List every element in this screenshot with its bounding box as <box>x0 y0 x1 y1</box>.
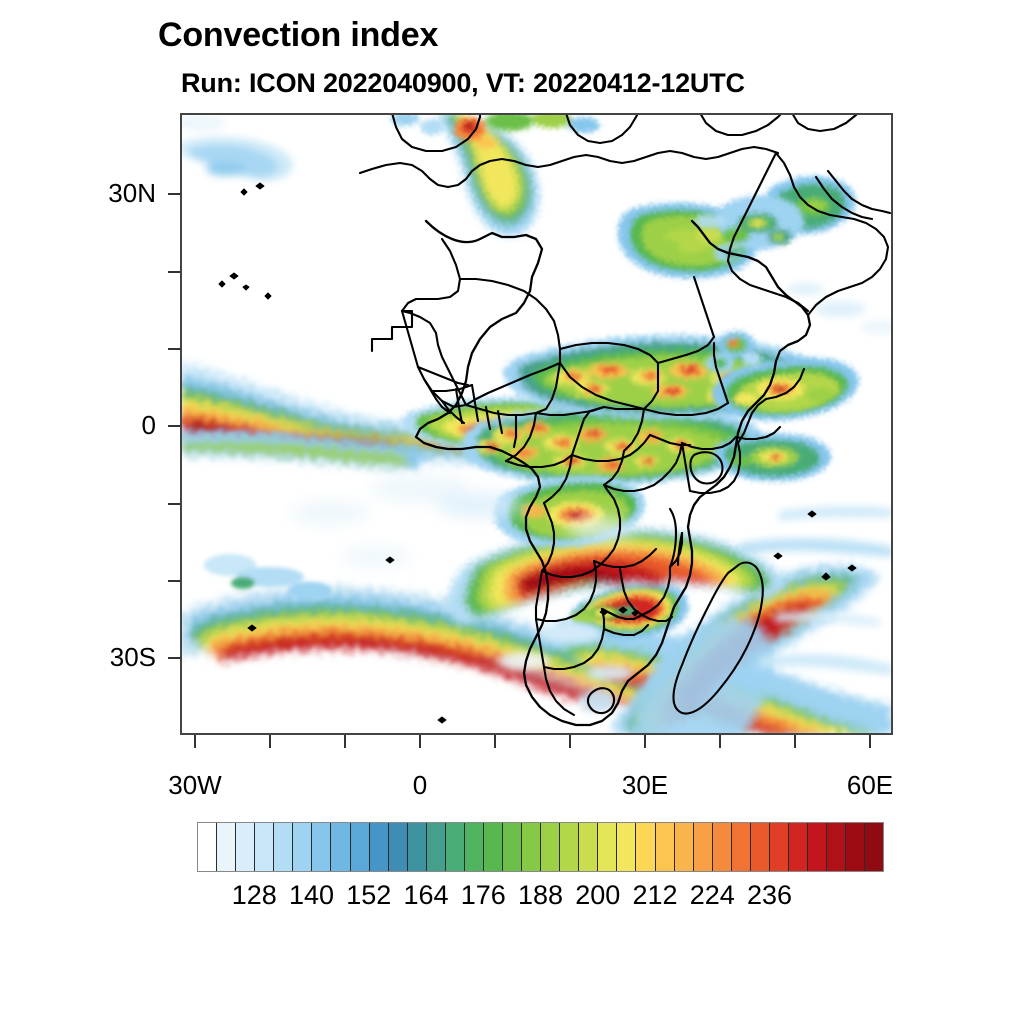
x-axis-label-30W: 30W <box>115 770 275 801</box>
x-axis-label-0: 0 <box>340 770 500 801</box>
colorbar-cell <box>846 823 865 871</box>
colorbar-cell <box>255 823 274 871</box>
colorbar-cell <box>694 823 713 871</box>
colorbar-cell <box>560 823 579 871</box>
x-tick-10W <box>344 735 346 748</box>
colorbar-cell <box>808 823 827 871</box>
colorbar-cell <box>617 823 636 871</box>
colorbar-cell <box>751 823 770 871</box>
colorbar-cell <box>236 823 255 871</box>
x-tick-0 <box>419 735 421 748</box>
x-tick-30W <box>194 735 196 748</box>
colorbar-cell <box>579 823 598 871</box>
colorbar-tick-label: 152 <box>346 880 391 911</box>
colorbar-cell <box>865 823 883 871</box>
y-tick-30S <box>168 657 181 659</box>
x-tick-50E <box>794 735 796 748</box>
x-axis-label-60E: 60E <box>790 770 950 801</box>
colorbar-tick-label: 164 <box>403 880 448 911</box>
x-tick-20E <box>569 735 571 748</box>
colorbar-cell <box>351 823 370 871</box>
run-valid-time-subtitle: Run: ICON 2022040900, VT: 20220412-12UTC <box>181 68 745 99</box>
colorbar-cell <box>427 823 446 871</box>
colorbar-cell <box>636 823 655 871</box>
colorbar-cell <box>217 823 236 871</box>
colorbar-cell <box>331 823 350 871</box>
y-tick-30N <box>168 193 181 195</box>
y-axis-label-30S: 30S <box>0 642 156 673</box>
colorbar <box>197 822 884 872</box>
colorbar-cell <box>198 823 217 871</box>
colorbar-cell <box>598 823 617 871</box>
colorbar-cell <box>446 823 465 871</box>
colorbar-tick-label: 236 <box>747 880 792 911</box>
colorbar-cell <box>503 823 522 871</box>
colorbar-cell <box>541 823 560 871</box>
x-tick-40E <box>719 735 721 748</box>
colorbar-cell <box>293 823 312 871</box>
colorbar-tick-label: 128 <box>232 880 277 911</box>
colorbar-tick-label: 224 <box>690 880 735 911</box>
colorbar-cell <box>827 823 846 871</box>
page-title: Convection index <box>158 16 438 55</box>
colorbar-tick-label: 212 <box>632 880 677 911</box>
colorbar-cell <box>408 823 427 871</box>
y-tick-20S <box>168 580 181 582</box>
colorbar-cell <box>522 823 541 871</box>
y-tick-0 <box>168 425 181 427</box>
colorbar-cell <box>484 823 503 871</box>
colorbar-cell <box>713 823 732 871</box>
colorbar-tick-labels: 128140152164176188200212224236 <box>0 880 1024 920</box>
x-tick-20W <box>269 735 271 748</box>
y-tick-10N <box>168 348 181 350</box>
colorbar-cell <box>389 823 408 871</box>
y-tick-10S <box>168 503 181 505</box>
colorbar-cell <box>656 823 675 871</box>
colorbar-cell <box>789 823 808 871</box>
convection-index-map <box>180 113 893 735</box>
colorbar-cell <box>370 823 389 871</box>
colorbar-cell <box>274 823 293 871</box>
colorbar-cell <box>732 823 751 871</box>
map-plot-area <box>180 113 893 735</box>
x-tick-10E <box>494 735 496 748</box>
y-axis-label-0: 0 <box>0 410 156 441</box>
colorbar-cell <box>312 823 331 871</box>
colorbar-cell <box>675 823 694 871</box>
colorbar-tick-label: 176 <box>461 880 506 911</box>
x-tick-60E <box>869 735 871 748</box>
y-axis-label-30N: 30N <box>0 178 156 209</box>
y-tick-20N <box>168 271 181 273</box>
colorbar-cell <box>465 823 484 871</box>
x-axis-label-30E: 30E <box>565 770 725 801</box>
x-tick-30E <box>644 735 646 748</box>
colorbar-tick-label: 188 <box>518 880 563 911</box>
weather-chart-figure: Convection index Run: ICON 2022040900, V… <box>0 0 1024 1024</box>
colorbar-tick-label: 140 <box>289 880 334 911</box>
colorbar-tick-label: 200 <box>575 880 620 911</box>
colorbar-cell <box>770 823 789 871</box>
